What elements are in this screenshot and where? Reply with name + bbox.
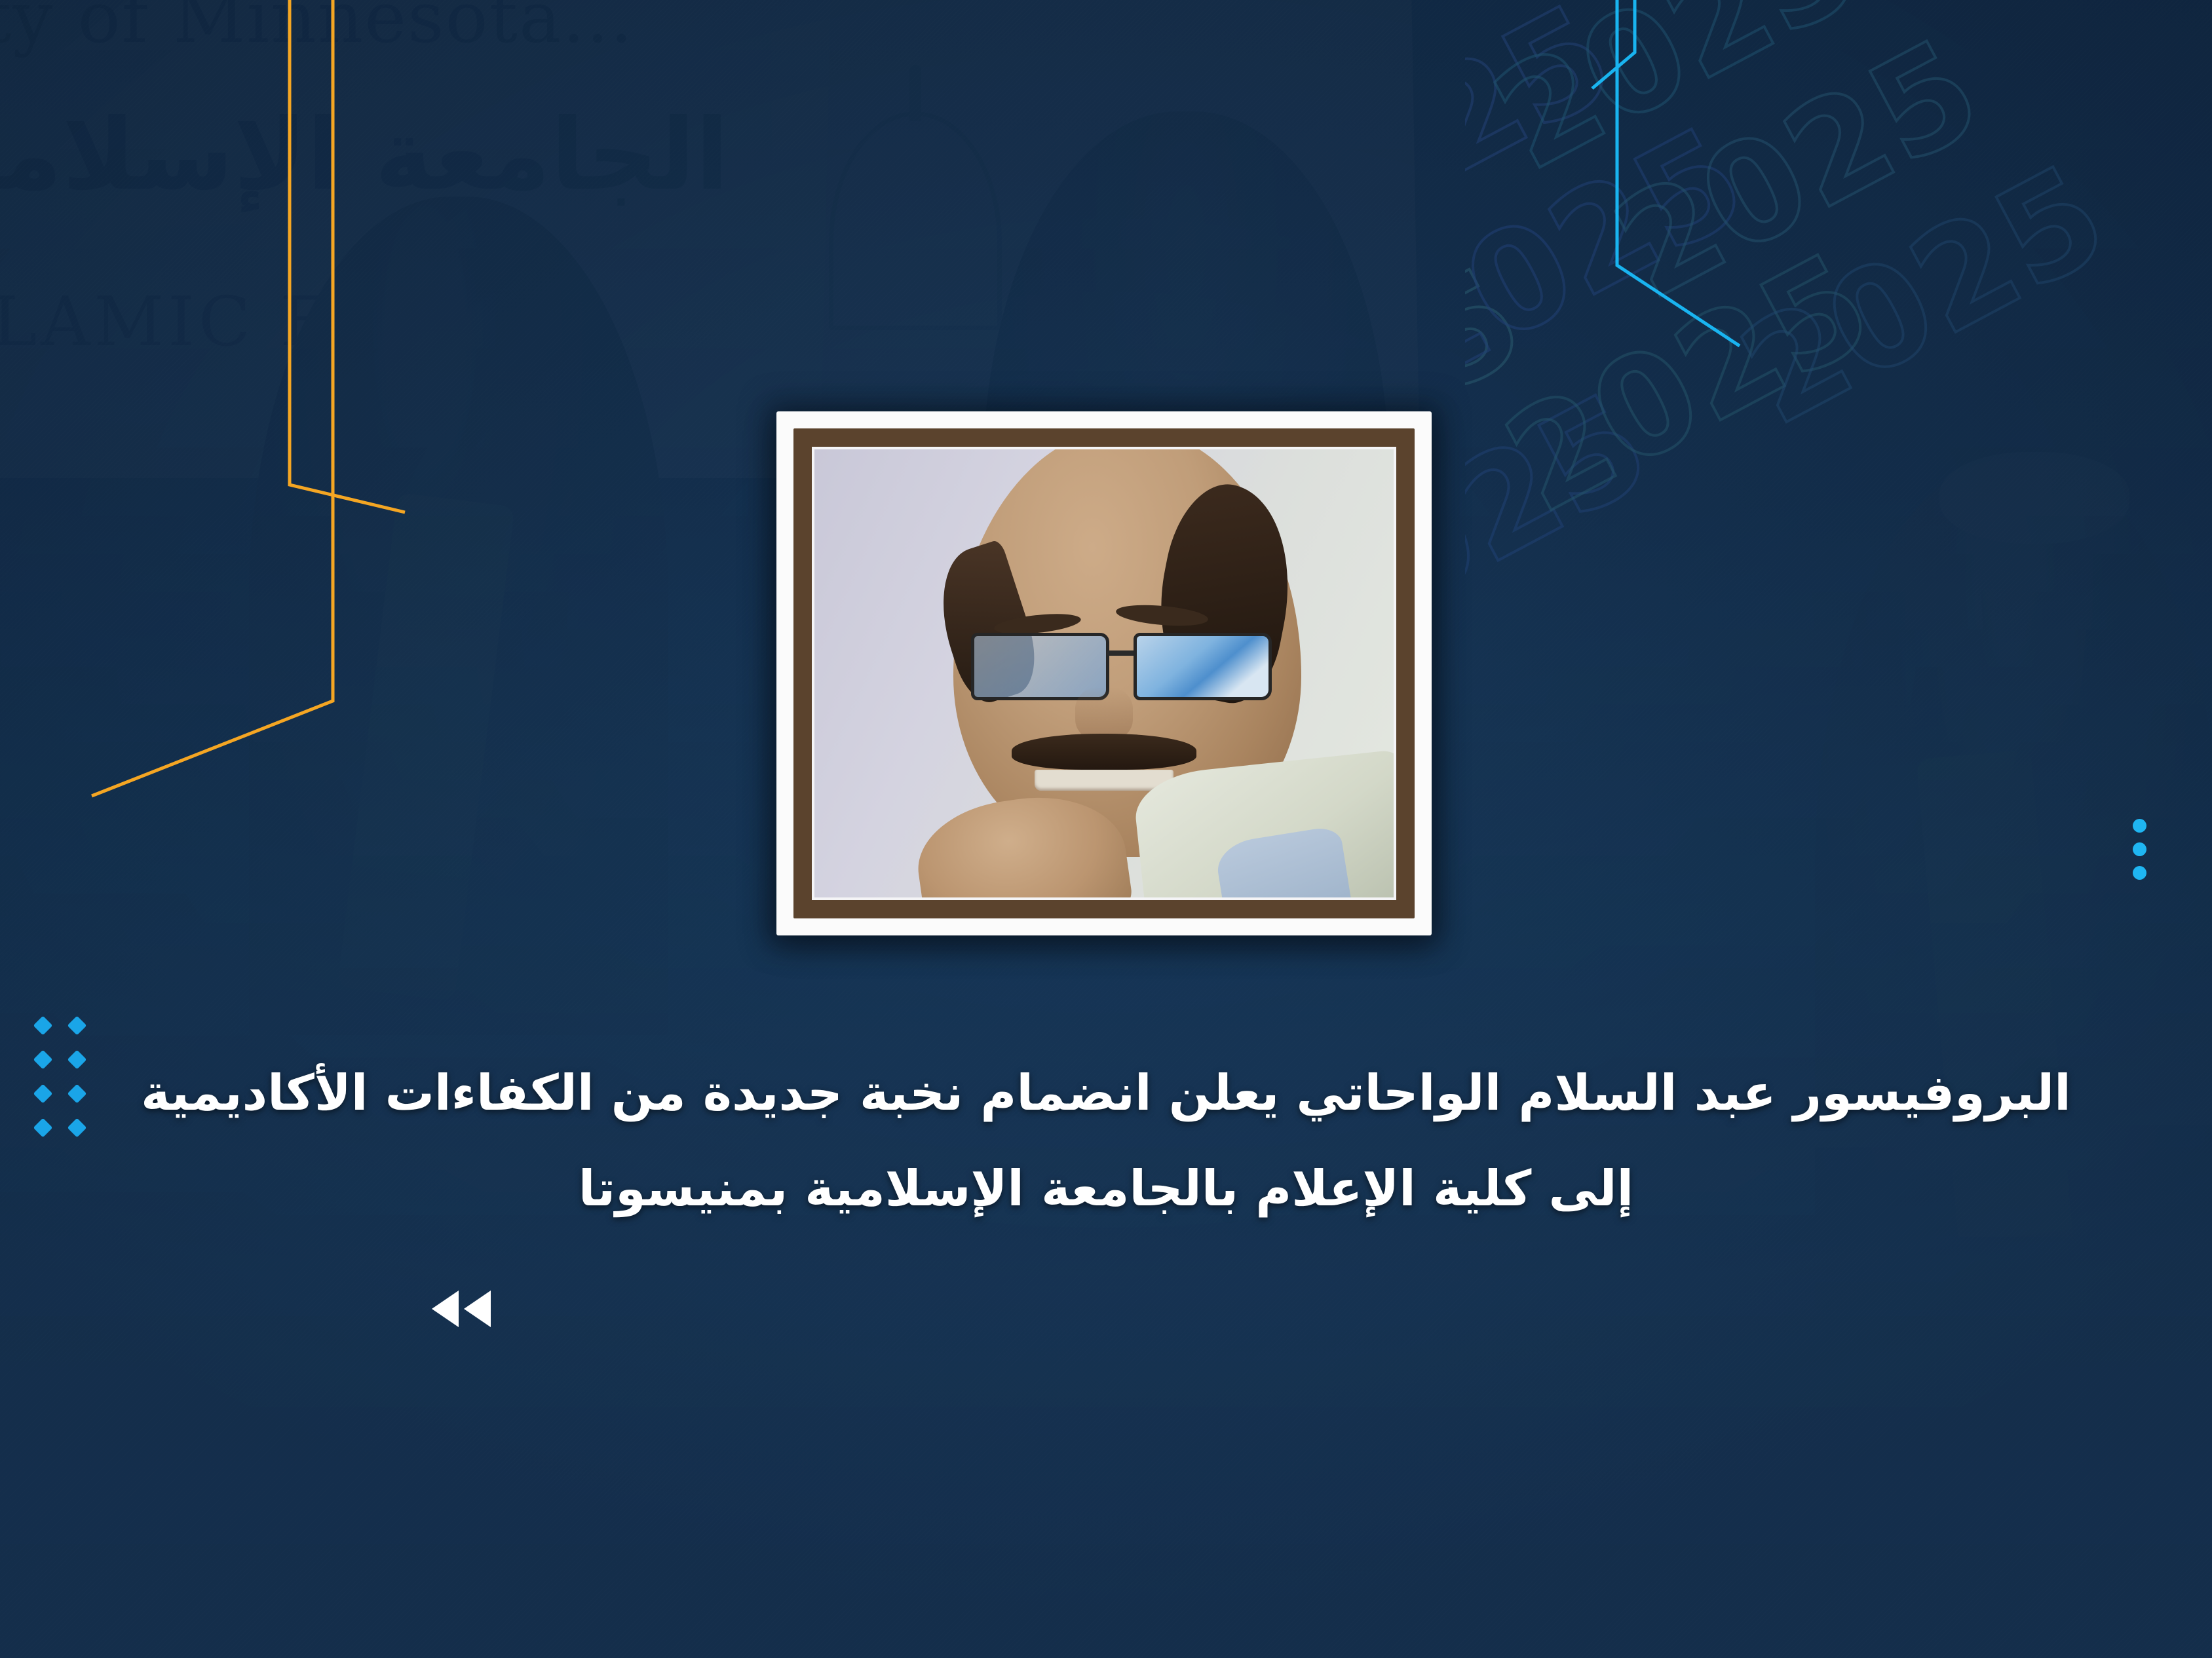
year-outline-pattern: .yr{ font-family:"DejaVu Sans","Liberati… <box>1465 0 2212 681</box>
headline-line-1: البروفيسور عبد السلام الواحاتي يعلن انضم… <box>85 1053 2127 1133</box>
portrait-lens-right <box>1134 633 1272 700</box>
circle-dot <box>2133 842 2146 856</box>
rewind-icon[interactable] <box>423 1279 501 1338</box>
portrait-glasses-bridge <box>1107 650 1137 656</box>
rewind-button[interactable] <box>423 1279 501 1338</box>
diamond-dot <box>33 1016 53 1036</box>
slide-canvas: ...sity of Minnesota الجامعة الإسلامية .… <box>0 0 2212 1658</box>
portrait-teeth <box>1035 770 1173 790</box>
headline-line-2: إلى كلية الإعلام بالجامعة الإسلامية بمني… <box>85 1149 2127 1229</box>
diamond-dot <box>67 1016 87 1036</box>
circle-dot <box>2133 819 2146 833</box>
portrait-moustache <box>1012 734 1197 770</box>
portrait-nose <box>1075 687 1133 741</box>
portrait-mat <box>793 428 1415 918</box>
circle-dot-column <box>2133 819 2146 880</box>
circle-dot <box>2133 866 2146 880</box>
portrait-photo <box>812 447 1396 900</box>
portrait-frame <box>776 411 1432 935</box>
headline-block: البروفيسور عبد السلام الواحاتي يعلن انضم… <box>0 1053 2212 1228</box>
